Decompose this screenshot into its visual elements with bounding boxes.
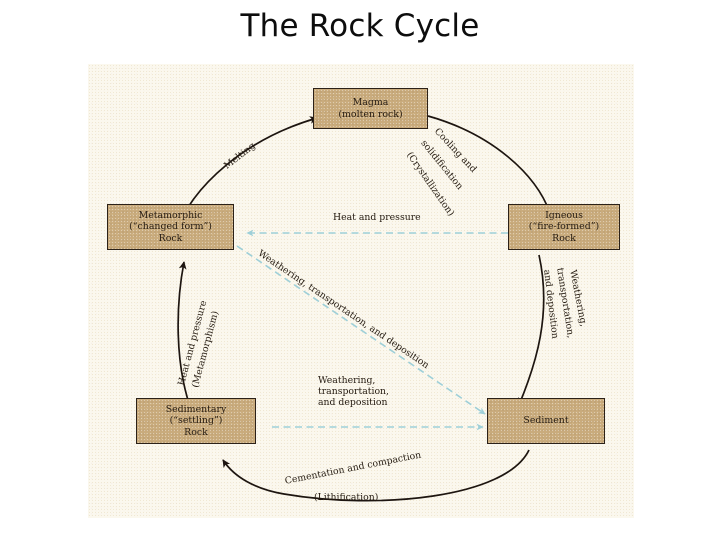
node-sedimentary[interactable]: Sedimentary (“settling”) Rock bbox=[136, 398, 256, 444]
node-metamorphic-line-3: Rock bbox=[159, 233, 183, 244]
node-igneous[interactable]: Igneous (“fire-formed”) Rock bbox=[508, 204, 620, 250]
rock-cycle-diagram: Magma (molten rock) Metamorphic (“change… bbox=[88, 64, 634, 518]
edge-label-weathering-center-line-1: Weathering, bbox=[318, 375, 438, 386]
node-igneous-line-1: Igneous bbox=[545, 210, 583, 221]
page-title: The Rock Cycle bbox=[0, 8, 720, 44]
node-magma-line-2: (molten rock) bbox=[338, 109, 402, 120]
node-igneous-line-3: Rock bbox=[552, 233, 576, 244]
node-igneous-line-2: (“fire-formed”) bbox=[529, 221, 599, 232]
edge-label-heat-and-pressure-horizontal: Heat and pressure bbox=[333, 212, 421, 223]
node-magma-line-1: Magma bbox=[353, 97, 389, 108]
node-metamorphic[interactable]: Metamorphic (“changed form”) Rock bbox=[107, 204, 234, 250]
node-sediment[interactable]: Sediment bbox=[487, 398, 605, 444]
node-sedimentary-line-2: (“settling”) bbox=[170, 415, 223, 426]
node-sedimentary-line-3: Rock bbox=[184, 427, 208, 438]
edge-label-weathering-center: Weathering, transportation, and depositi… bbox=[318, 375, 438, 409]
edge-label-weathering-center-line-3: and deposition bbox=[318, 397, 438, 408]
arrow-weathering-right bbox=[519, 255, 544, 405]
edge-label-weathering-center-line-2: transportation, bbox=[318, 386, 438, 397]
node-metamorphic-line-2: (“changed form”) bbox=[129, 221, 212, 232]
node-magma[interactable]: Magma (molten rock) bbox=[313, 88, 428, 129]
node-sedimentary-line-1: Sedimentary bbox=[166, 404, 227, 415]
node-sediment-line-1: Sediment bbox=[523, 415, 568, 426]
node-metamorphic-line-1: Metamorphic bbox=[139, 210, 203, 221]
edge-label-cementation-line-2: (Lithification) bbox=[314, 492, 378, 503]
